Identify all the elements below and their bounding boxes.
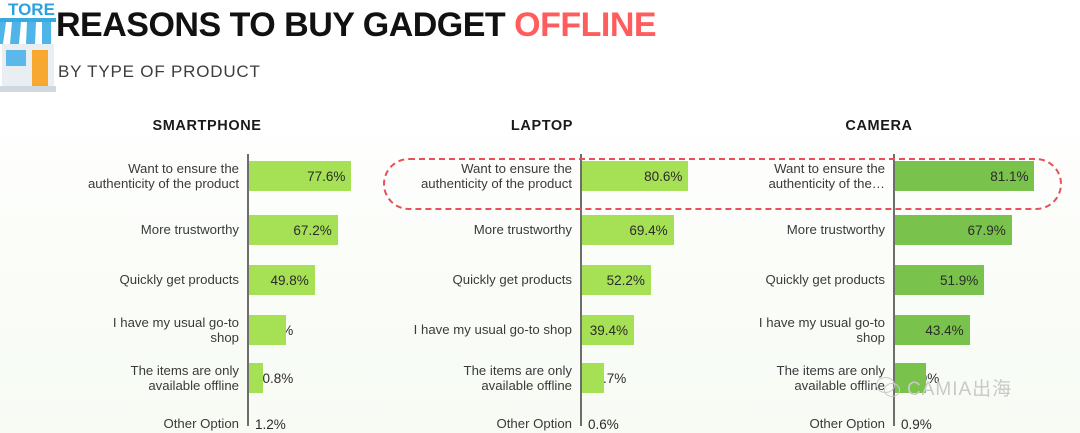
bar-row: Quickly get products51.9% <box>714 258 1044 302</box>
bar-value-label: 80.6% <box>644 169 682 184</box>
bar-row-label: More trustworthy <box>390 222 572 238</box>
bar-container <box>249 356 263 400</box>
bar-row: Other Option1.2% <box>58 402 358 433</box>
bar-value-label: 49.8% <box>270 273 308 288</box>
bar-value-label: 39.4% <box>590 323 628 338</box>
bar-container: 67.2% <box>249 208 338 252</box>
bar-row: Quickly get products52.2% <box>392 258 692 302</box>
bar-value-label: 43.4% <box>925 323 963 338</box>
bar-value-label: 51.9% <box>940 273 978 288</box>
bar-container <box>582 402 588 433</box>
bar-row-label: The items are only available offline <box>713 363 885 394</box>
bar-container: 51.9% <box>895 258 984 302</box>
bar <box>895 363 926 393</box>
bar-row: Want to ensure the authenticity of the…8… <box>714 154 1044 198</box>
bar-row: The items are only available offline17.9… <box>714 356 1044 400</box>
bar-row: The items are only available offline10.8… <box>58 356 358 400</box>
bar: 67.9% <box>895 215 1012 245</box>
bar-row: Want to ensure the authenticity of the p… <box>58 154 358 198</box>
page-title-main: REASONS TO BUY GADGET <box>56 6 514 44</box>
bar: 81.1% <box>895 161 1034 191</box>
bar-row-label: The items are only available offline <box>57 363 239 394</box>
bar-row-label: Quickly get products <box>390 272 572 288</box>
bar-container <box>249 402 255 433</box>
bar-container: 77.6% <box>249 154 351 198</box>
header: TORE REASONS TO BUY GADGET OFFLINE <box>0 0 1080 110</box>
svg-text:TORE: TORE <box>8 0 55 19</box>
bar-container: 49.8% <box>249 258 315 302</box>
bar-value-label: 77.6% <box>307 169 345 184</box>
bar-container: 39.4% <box>582 308 634 352</box>
bar-row-label: I have my usual go-to shop <box>390 322 572 338</box>
bar-row-label: Want to ensure the authenticity of the p… <box>390 161 572 192</box>
chart-panel-smartphone: SMARTPHONE Want to ensure the authentici… <box>58 118 358 433</box>
bar-container <box>895 402 901 433</box>
bar-container <box>582 356 604 400</box>
bar-row-label: Other Option <box>57 416 239 432</box>
storefront-icon: TORE <box>0 0 56 100</box>
chart-title-camera: CAMERA <box>714 118 1044 134</box>
chart-title-smartphone: SMARTPHONE <box>58 118 356 134</box>
chart-title-laptop: LAPTOP <box>392 118 692 134</box>
bar-row-label: Quickly get products <box>57 272 239 288</box>
bar <box>249 315 286 345</box>
bar-value-label: 67.2% <box>293 223 331 238</box>
bar-row-label: I have my usual go-to shop <box>57 315 239 346</box>
page-subtitle: BY TYPE OF PRODUCT <box>58 62 261 82</box>
bar-value-label: 0.9% <box>897 417 932 432</box>
bar: 39.4% <box>582 315 634 345</box>
bar-row-label: Other Option <box>390 416 572 432</box>
bar <box>582 409 588 433</box>
bar: 67.2% <box>249 215 338 245</box>
bar-value-label: 52.2% <box>607 273 645 288</box>
bar-row: I have my usual go-to shop27.8% <box>58 308 358 352</box>
bar-row-label: More trustworthy <box>713 222 885 238</box>
bar-container: 80.6% <box>582 154 688 198</box>
bar-row: Other Option0.6% <box>392 402 692 433</box>
bar-row-label: Other Option <box>713 416 885 432</box>
bar-container: 69.4% <box>582 208 674 252</box>
bar-row-label: I have my usual go-to shop <box>713 315 885 346</box>
bar: 49.8% <box>249 265 315 295</box>
bar-value-label: 67.9% <box>968 223 1006 238</box>
bar <box>895 409 901 433</box>
bar-row-label: Want to ensure the authenticity of the p… <box>57 161 239 192</box>
bar <box>582 363 604 393</box>
bar-container: 67.9% <box>895 208 1012 252</box>
bar-container <box>895 356 926 400</box>
bar-container: 43.4% <box>895 308 970 352</box>
bar-row: Quickly get products49.8% <box>58 258 358 302</box>
bar-row: I have my usual go-to shop43.4% <box>714 308 1044 352</box>
bar-value-label: 81.1% <box>990 169 1028 184</box>
bar-value-label: 0.6% <box>584 417 619 432</box>
bar-row: The items are only available offline16.7… <box>392 356 692 400</box>
bar: 69.4% <box>582 215 674 245</box>
bar: 52.2% <box>582 265 651 295</box>
bar: 77.6% <box>249 161 351 191</box>
bar-row-label: The items are only available offline <box>390 363 572 394</box>
infographic-page: TORE REASONS TO BUY GADGET OFFLINE <box>0 0 1080 433</box>
chart-panel-laptop: LAPTOP Want to ensure the authenticity o… <box>392 118 692 433</box>
page-title-accent: OFFLINE <box>514 6 656 44</box>
bar: 80.6% <box>582 161 688 191</box>
bar <box>249 409 255 433</box>
bar-row: More trustworthy67.2% <box>58 208 358 252</box>
bar-container: 52.2% <box>582 258 651 302</box>
bar-container <box>249 308 286 352</box>
bar-row: Want to ensure the authenticity of the p… <box>392 154 692 198</box>
bar-row: More trustworthy69.4% <box>392 208 692 252</box>
bar-row: More trustworthy67.9% <box>714 208 1044 252</box>
bar-row-label: More trustworthy <box>57 222 239 238</box>
bar-container: 81.1% <box>895 154 1034 198</box>
bar-value-label: 1.2% <box>251 417 286 432</box>
bar-row: I have my usual go-to shop39.4% <box>392 308 692 352</box>
chart-panel-camera: CAMERA Want to ensure the authenticity o… <box>714 118 1044 433</box>
page-title: REASONS TO BUY GADGET OFFLINE <box>56 6 656 45</box>
bar-row-label: Quickly get products <box>713 272 885 288</box>
bar <box>249 363 263 393</box>
bar: 51.9% <box>895 265 984 295</box>
bar-value-label: 69.4% <box>629 223 667 238</box>
bar-row: Other Option0.9% <box>714 402 1044 433</box>
bar: 43.4% <box>895 315 970 345</box>
bar-row-label: Want to ensure the authenticity of the… <box>713 161 885 192</box>
